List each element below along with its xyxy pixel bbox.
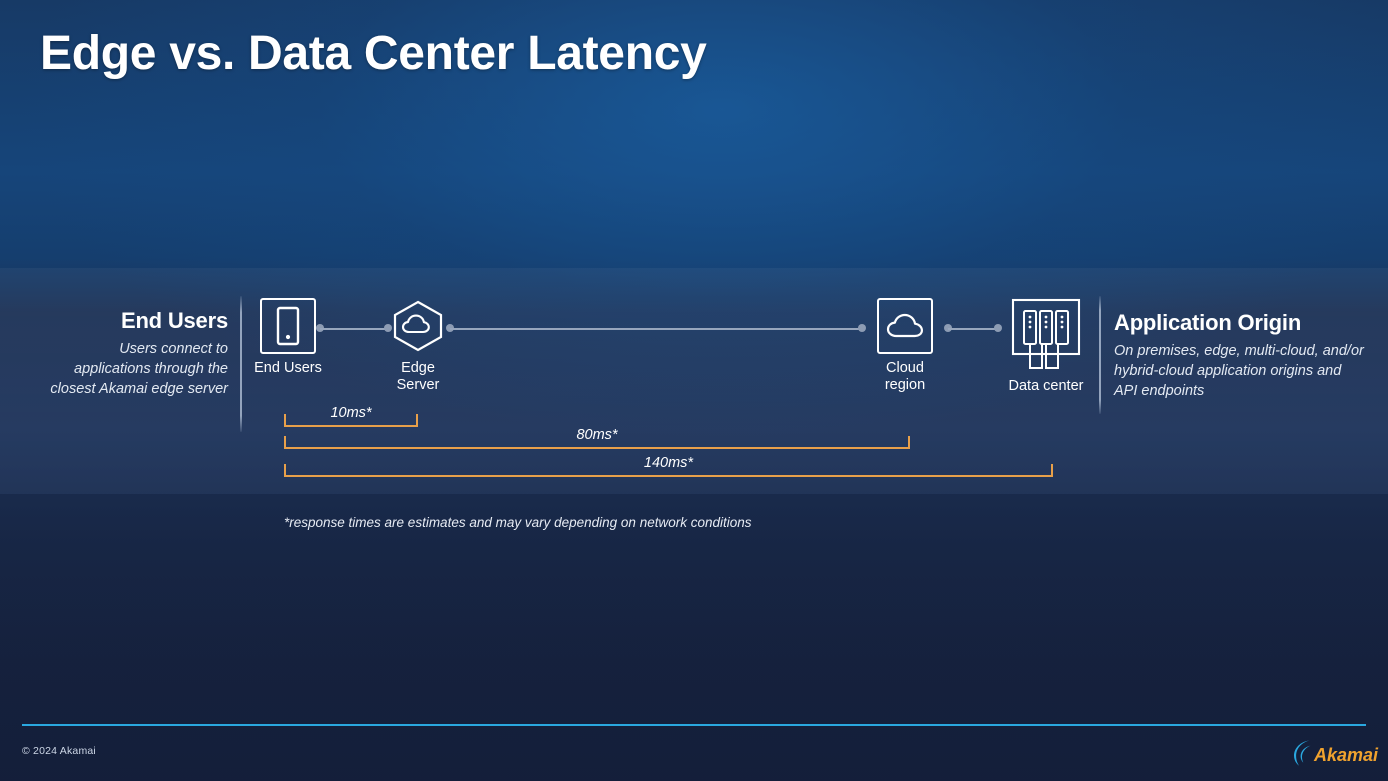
bracket-latency-80ms: 80ms* — [284, 427, 910, 449]
connector-dot-right — [858, 324, 866, 332]
bracket-tick-right — [416, 414, 418, 427]
slide-background: Edge vs. Data Center Latency End Users U… — [0, 0, 1388, 781]
bracket-tick-right — [908, 436, 910, 449]
akamai-wordmark: Akamai — [1313, 745, 1379, 765]
footnote: *response times are estimates and may va… — [284, 514, 752, 533]
panel-end-users-heading: End Users — [40, 308, 228, 334]
copyright-text: © 2024 Akamai — [22, 745, 96, 757]
panel-end-users: End Users Users connect to applications … — [40, 308, 228, 400]
connector-edge-cloud — [446, 324, 866, 333]
divider-right — [1099, 296, 1101, 414]
cloud-icon — [877, 298, 933, 354]
node-cloud-region: Cloud region — [873, 298, 937, 394]
page-title: Edge vs. Data Center Latency — [40, 28, 707, 81]
node-edge-server: Edge Server — [378, 298, 458, 394]
bracket-latency-10ms: 10ms* — [284, 405, 418, 427]
mobile-phone-icon — [260, 298, 316, 354]
node-data-center: Data center — [1006, 298, 1086, 395]
hexagon-cloud-icon — [390, 300, 446, 352]
footer-divider — [22, 724, 1366, 726]
panel-application-origin: Application Origin On premises, edge, mu… — [1114, 310, 1364, 402]
connector-cloud-datacenter — [944, 324, 1002, 333]
connector-line — [450, 328, 862, 330]
bracket-latency-140ms-label: 140ms* — [284, 455, 1053, 471]
divider-left — [240, 296, 242, 432]
bracket-tick-right — [1051, 464, 1053, 477]
node-cloud-region-label: Cloud region — [873, 360, 937, 394]
server-rack-icon — [1010, 298, 1082, 372]
connector-line — [948, 328, 998, 330]
panel-application-origin-heading: Application Origin — [1114, 310, 1364, 336]
bracket-bar — [284, 475, 1053, 477]
panel-end-users-body: Users connect to applications through th… — [40, 340, 228, 400]
node-end-users-label: End Users — [248, 360, 328, 377]
bracket-latency-80ms-label: 80ms* — [284, 427, 910, 443]
panel-application-origin-body: On premises, edge, multi-cloud, and/or h… — [1114, 342, 1364, 402]
bracket-bar — [284, 447, 910, 449]
bracket-latency-10ms-label: 10ms* — [284, 405, 418, 421]
node-edge-server-label: Edge Server — [378, 360, 458, 394]
akamai-logo: Akamai — [1288, 736, 1380, 770]
bracket-latency-140ms: 140ms* — [284, 455, 1053, 477]
node-data-center-label: Data center — [1006, 378, 1086, 395]
node-end-users: End Users — [248, 298, 328, 377]
connector-dot-right — [994, 324, 1002, 332]
lower-band — [0, 494, 1388, 781]
